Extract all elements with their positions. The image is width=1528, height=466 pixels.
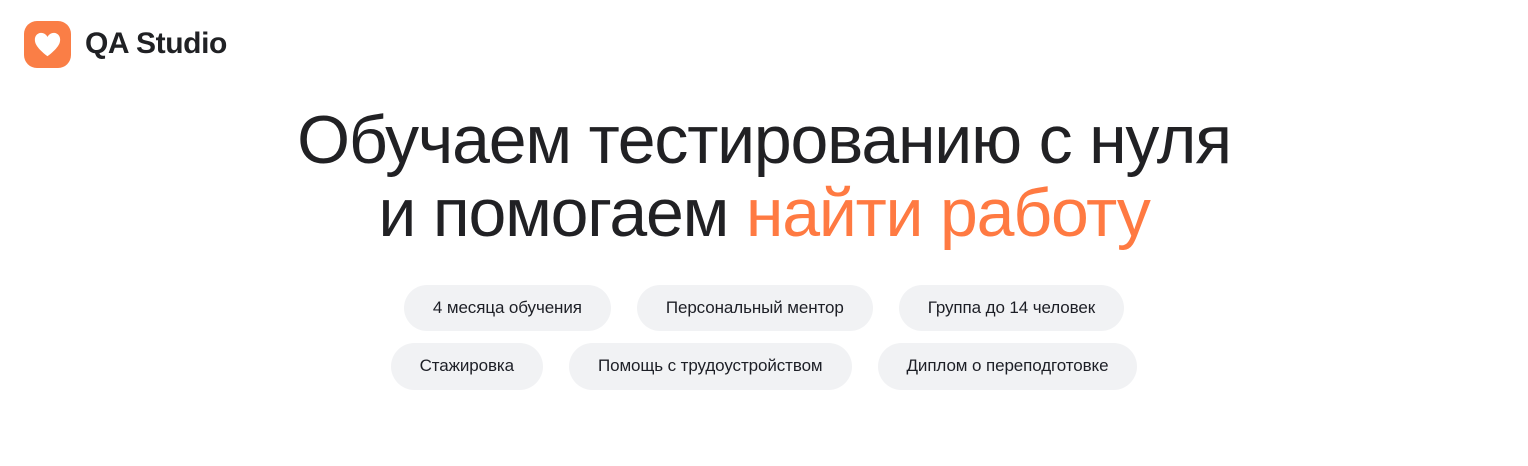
feature-chip-group: 4 месяца обучения Персональный ментор Гр… [0, 285, 1528, 390]
feature-chip-duration[interactable]: 4 месяца обучения [404, 285, 611, 331]
hero-section: Обучаем тестированию с нуля и помогаем н… [0, 104, 1528, 390]
feature-chip-mentor[interactable]: Персональный ментор [637, 285, 873, 331]
feature-chip-group-size[interactable]: Группа до 14 человек [899, 285, 1124, 331]
feature-chip-internship[interactable]: Стажировка [391, 343, 543, 389]
feature-chip-job-help[interactable]: Помощь с трудоустройством [569, 343, 852, 389]
feature-chip-diploma[interactable]: Диплом о переподготовке [878, 343, 1138, 389]
brand-logo-link[interactable]: QA Studio [24, 21, 227, 68]
hero-title-accent: найти работу [746, 175, 1150, 251]
feature-chip-row-1: 4 месяца обучения Персональный ментор Гр… [404, 285, 1124, 331]
page-title: Обучаем тестированию с нуля и помогаем н… [0, 104, 1528, 251]
hero-title-line-1: Обучаем тестированию с нуля [297, 102, 1231, 178]
brand-name: QA Studio [85, 29, 227, 59]
site-header: QA Studio [0, 0, 1528, 88]
hero-title-line-2: и помогаем найти работу [378, 175, 1149, 251]
heart-icon [24, 21, 71, 68]
hero-title-plain: и помогаем [378, 175, 745, 251]
feature-chip-row-2: Стажировка Помощь с трудоустройством Дип… [391, 343, 1138, 389]
